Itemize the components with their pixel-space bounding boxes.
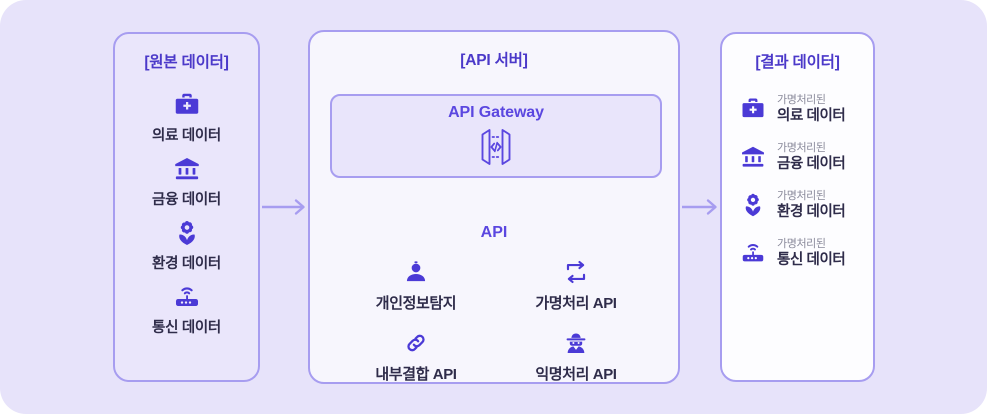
result-item-label: 의료 데이터 bbox=[777, 108, 845, 124]
api-item-label: 익명처리 API bbox=[535, 363, 616, 384]
result-item-sublabel: 가명처리된 bbox=[777, 94, 845, 106]
flower-environment-icon bbox=[172, 218, 202, 248]
api-gateway-title: API Gateway bbox=[448, 104, 544, 122]
api-gateway-doors-code-icon bbox=[472, 125, 520, 174]
result-item-finance: 가명처리된 금융 데이터 bbox=[738, 142, 873, 172]
medical-briefcase-icon bbox=[738, 94, 768, 124]
person-icon bbox=[403, 258, 429, 286]
result-item-sublabel: 가명처리된 bbox=[777, 190, 845, 202]
result-item-label: 금융 데이터 bbox=[777, 156, 845, 172]
result-item-label: 통신 데이터 bbox=[777, 252, 845, 268]
source-item-medical: 의료 데이터 bbox=[152, 90, 221, 145]
api-item-internal-join: 내부결합 API bbox=[336, 329, 496, 384]
source-item-label: 금융 데이터 bbox=[152, 188, 221, 209]
spy-incognito-icon bbox=[563, 329, 589, 357]
api-server-panel: [API 서버] API Gateway API bbox=[308, 30, 680, 384]
api-item-label: 내부결합 API bbox=[375, 363, 456, 384]
source-item-telecom: 통신 데이터 bbox=[152, 282, 221, 337]
result-item-telecom: 가명처리된 통신 데이터 bbox=[738, 238, 873, 268]
arrow-source-to-server bbox=[262, 195, 308, 219]
result-item-sublabel: 가명처리된 bbox=[777, 142, 845, 154]
server-panel-title: [API 서버] bbox=[310, 48, 678, 70]
bank-icon bbox=[738, 142, 768, 172]
source-panel-title: [원본 데이터] bbox=[115, 50, 258, 72]
api-item-label: 개인정보탐지 bbox=[376, 292, 456, 313]
api-item-anonymization: 익명처리 API bbox=[496, 329, 656, 384]
result-panel-title: [결과 데이터] bbox=[722, 50, 873, 72]
result-item-sublabel: 가명처리된 bbox=[777, 238, 845, 250]
bank-icon bbox=[172, 154, 202, 184]
api-item-pseudonymization: 가명처리 API bbox=[496, 258, 656, 313]
medical-briefcase-icon bbox=[172, 90, 202, 120]
source-item-label: 환경 데이터 bbox=[152, 252, 221, 273]
source-item-finance: 금융 데이터 bbox=[152, 154, 221, 209]
arrow-server-to-result bbox=[682, 195, 720, 219]
source-item-label: 통신 데이터 bbox=[152, 316, 221, 337]
diagram-canvas: [원본 데이터] 의료 데이터 bbox=[0, 0, 987, 414]
api-item-personal-info-detect: 개인정보탐지 bbox=[336, 258, 496, 313]
chain-link-icon bbox=[403, 329, 429, 357]
router-wifi-icon bbox=[172, 282, 202, 312]
result-data-panel: [결과 데이터] 가명처리된 의료 데이터 bbox=[720, 32, 875, 382]
result-item-medical: 가명처리된 의료 데이터 bbox=[738, 94, 873, 124]
api-list: 개인정보탐지 가명처리 API bbox=[336, 258, 656, 384]
result-data-list: 가명처리된 의료 데이터 가명처리된 금융 데이터 bbox=[722, 94, 873, 268]
router-wifi-icon bbox=[738, 238, 768, 268]
source-data-list: 의료 데이터 금융 데이터 bbox=[115, 90, 258, 337]
source-item-environment: 환경 데이터 bbox=[152, 218, 221, 273]
source-data-panel: [원본 데이터] 의료 데이터 bbox=[113, 32, 260, 382]
result-item-environment: 가명처리된 환경 데이터 bbox=[738, 190, 873, 220]
api-item-label: 가명처리 API bbox=[535, 292, 616, 313]
api-section-heading: API bbox=[310, 224, 678, 242]
swap-arrows-icon bbox=[563, 258, 589, 286]
result-item-label: 환경 데이터 bbox=[777, 204, 845, 220]
source-item-label: 의료 데이터 bbox=[152, 124, 221, 145]
flower-environment-icon bbox=[738, 190, 768, 220]
api-gateway-box: API Gateway bbox=[330, 94, 662, 178]
